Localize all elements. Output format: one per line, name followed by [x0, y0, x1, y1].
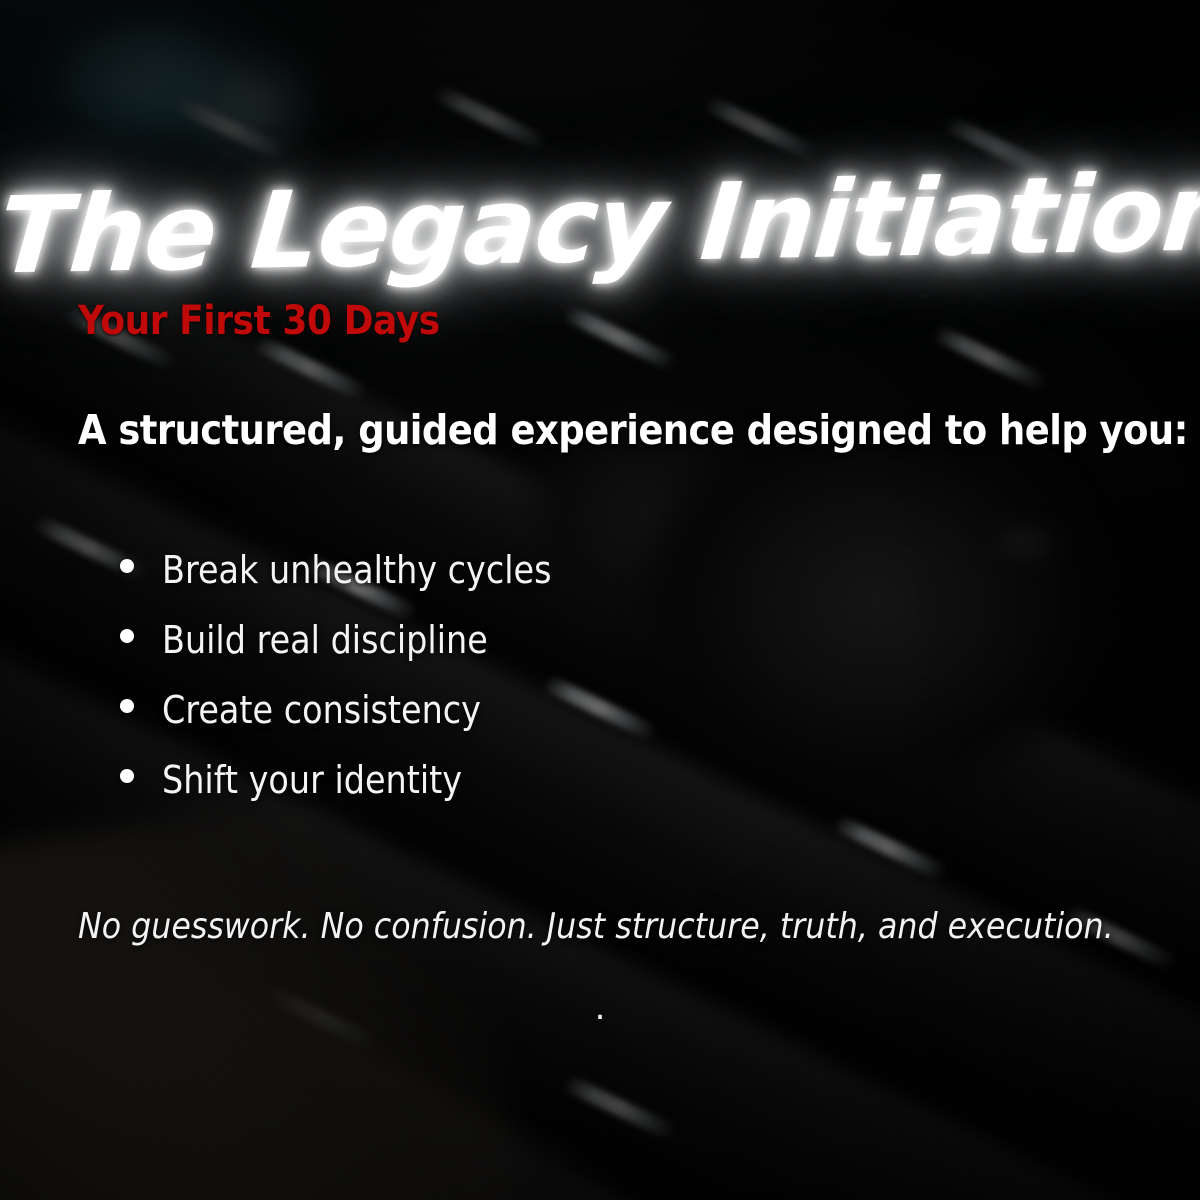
benefits-list: Break unhealthy cycles Build real discip…	[120, 548, 605, 828]
slide-subtitle: Your First 30 Days	[78, 298, 440, 344]
bullet-dot-icon	[120, 699, 134, 713]
trailing-period: .	[0, 988, 1200, 1028]
slide-kicker-text: No guesswork. No confusion. Just structu…	[78, 906, 1114, 947]
list-item-label: Build real discipline	[162, 618, 488, 662]
list-item: Break unhealthy cycles	[120, 548, 605, 618]
list-item-label: Create consistency	[162, 688, 481, 732]
slide-content: The Legacy Initiation Your First 30 Days…	[0, 0, 1200, 1200]
slide-title: The Legacy Initiation	[0, 160, 1200, 289]
bullet-dot-icon	[120, 769, 134, 783]
slide-lead-text: A structured, guided experience designed…	[78, 406, 1188, 454]
promo-slide: The Legacy Initiation Your First 30 Days…	[0, 0, 1200, 1200]
bullet-dot-icon	[120, 629, 134, 643]
list-item-label: Shift your identity	[162, 758, 462, 802]
list-item: Create consistency	[120, 688, 605, 758]
list-item: Build real discipline	[120, 618, 605, 688]
list-item-label: Break unhealthy cycles	[162, 548, 552, 592]
list-item: Shift your identity	[120, 758, 605, 828]
bullet-dot-icon	[120, 559, 134, 573]
